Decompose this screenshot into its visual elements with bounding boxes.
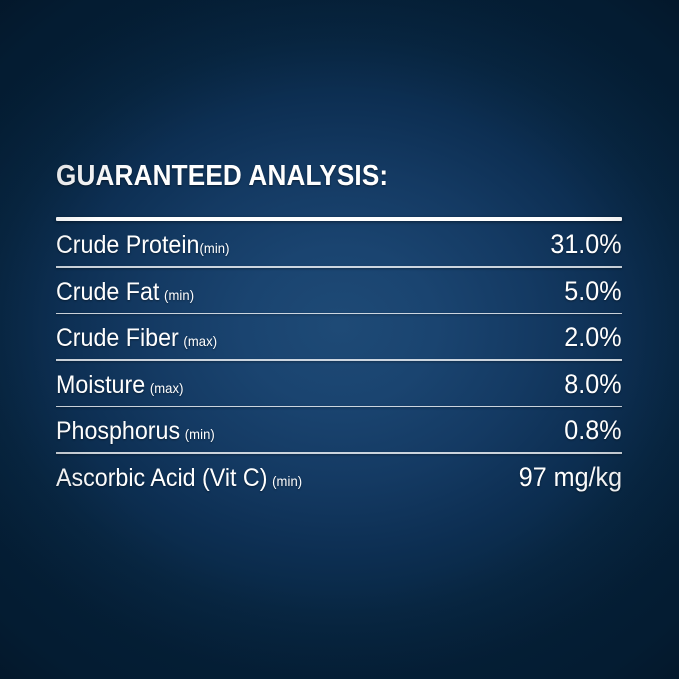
guaranteed-analysis-panel: GUARANTEED ANALYSIS: Crude Protein(min)3… xyxy=(0,0,679,679)
nutrient-value: 8.0% xyxy=(565,363,622,405)
nutrient-qualifier: (min) xyxy=(185,426,215,442)
nutrient-value: 97 mg/kg xyxy=(519,456,622,498)
nutrient-name: Phosphorus xyxy=(56,417,180,445)
analysis-table: GUARANTEED ANALYSIS: Crude Protein(min)3… xyxy=(56,160,622,499)
nutrient-qualifier: (max) xyxy=(183,333,217,349)
nutrient-value: 5.0% xyxy=(565,270,622,312)
nutrient-qualifier: (min) xyxy=(199,240,229,256)
nutrient-qualifier: (max) xyxy=(150,380,184,396)
analysis-row: Ascorbic Acid (Vit C)(min)97 mg/kg xyxy=(56,454,622,499)
nutrient-name: Crude Fiber xyxy=(56,324,179,352)
page-title: GUARANTEED ANALYSIS: xyxy=(56,160,565,192)
nutrient-label: Crude Protein(min) xyxy=(56,224,230,269)
analysis-row: Crude Protein(min)31.0% xyxy=(56,221,622,266)
nutrient-value: 31.0% xyxy=(551,223,622,265)
nutrient-qualifier: (min) xyxy=(164,287,194,303)
analysis-row-list: Crude Protein(min)31.0%Crude Fat(min)5.0… xyxy=(56,221,622,499)
nutrient-name: Moisture xyxy=(56,371,145,399)
nutrient-name: Crude Fat xyxy=(56,278,159,306)
nutrient-name: Ascorbic Acid (Vit C) xyxy=(56,464,267,492)
nutrient-label: Crude Fat(min) xyxy=(56,271,194,316)
analysis-row: Crude Fat(min)5.0% xyxy=(56,268,622,313)
nutrient-value: 0.8% xyxy=(565,409,622,451)
nutrient-label: Ascorbic Acid (Vit C)(min) xyxy=(56,457,302,502)
nutrient-qualifier: (min) xyxy=(272,473,302,489)
nutrient-name: Crude Protein xyxy=(56,231,199,259)
analysis-row: Crude Fiber(max)2.0% xyxy=(56,314,622,359)
nutrient-label: Moisture(max) xyxy=(56,364,184,409)
nutrient-label: Phosphorus(min) xyxy=(56,410,215,455)
analysis-row: Phosphorus(min)0.8% xyxy=(56,407,622,452)
analysis-row: Moisture(max)8.0% xyxy=(56,361,622,406)
nutrient-label: Crude Fiber(max) xyxy=(56,317,217,362)
nutrient-value: 2.0% xyxy=(565,316,622,358)
